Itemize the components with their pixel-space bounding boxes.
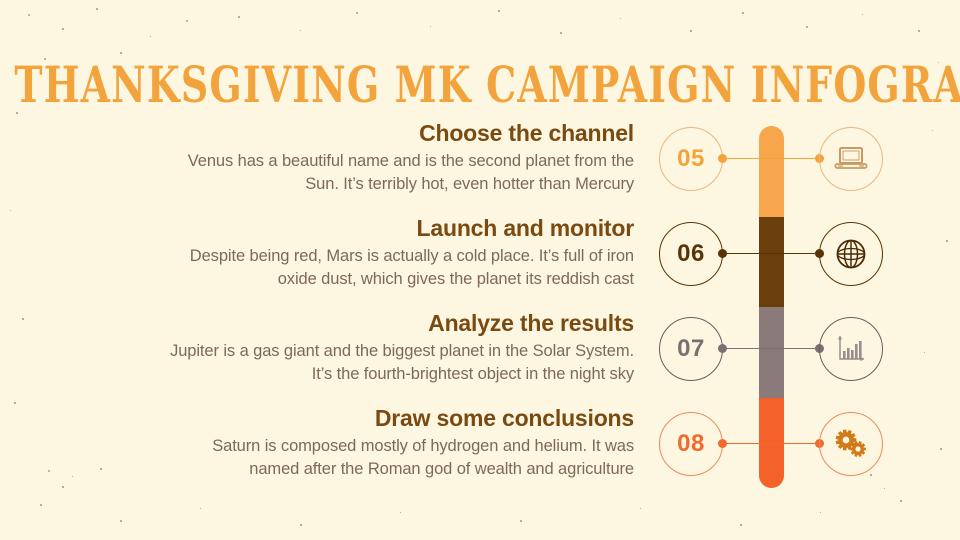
speckle-dot: [186, 20, 188, 22]
step-icon-circle-08[interactable]: [819, 412, 883, 476]
speckle-dot: [740, 524, 742, 526]
speckle-dot: [900, 500, 902, 502]
connector-line: [722, 443, 820, 444]
infographic-row: Launch and monitorDespite being red, Mar…: [0, 213, 960, 308]
speckle-dot: [40, 504, 42, 506]
speckle-dot: [620, 18, 621, 19]
bar-chart-icon: [836, 334, 866, 364]
connector-line: [722, 253, 820, 254]
row-heading: Analyze the results: [164, 308, 634, 338]
speckle-dot: [28, 14, 30, 16]
speckle-dot: [640, 508, 641, 509]
speckle-dot: [690, 30, 692, 32]
speckle-dot: [300, 30, 301, 31]
step-icon-circle-06[interactable]: [819, 222, 883, 286]
row-body-text: Saturn is composed mostly of hydrogen an…: [164, 435, 634, 481]
row-heading: Draw some conclusions: [164, 403, 634, 433]
speckle-dot: [498, 10, 500, 12]
step-number-label: 05: [677, 145, 705, 173]
infographic-row: Choose the channelVenus has a beautiful …: [0, 118, 960, 213]
row-body-text: Venus has a beautiful name and is the se…: [164, 150, 634, 196]
speckle-dot: [120, 520, 122, 522]
step-number-label: 06: [677, 240, 705, 268]
speckle-dot: [918, 30, 920, 32]
speckle-dot: [150, 36, 151, 37]
speckle-dot: [200, 508, 201, 509]
step-number-label: 08: [677, 430, 705, 458]
infographic-row: Draw some conclusionsSaturn is composed …: [0, 403, 960, 498]
speckle-dot: [62, 28, 64, 30]
connector-line: [722, 348, 820, 349]
speckle-dot: [520, 520, 522, 522]
infographic-row: Analyze the resultsJupiter is a gas gian…: [0, 308, 960, 403]
row-body-text: Despite being red, Mars is actually a co…: [164, 245, 634, 291]
row-text-block: Choose the channelVenus has a beautiful …: [164, 118, 634, 196]
speckle-dot: [742, 12, 744, 14]
laptop-icon: [834, 144, 868, 174]
speckle-dot: [430, 26, 431, 27]
step-number-circle-08[interactable]: 08: [659, 412, 723, 476]
page-title: THANKSGIVING MK CAMPAIGN INFOGRAPHICS: [14, 56, 945, 115]
speckle-dot: [96, 8, 98, 10]
step-number-circle-05[interactable]: 05: [659, 127, 723, 191]
row-text-block: Draw some conclusionsSaturn is composed …: [164, 403, 634, 481]
speckle-dot: [560, 32, 562, 34]
speckle-dot: [400, 512, 401, 513]
speckle-dot: [820, 512, 821, 513]
speckle-dot: [300, 524, 302, 526]
infographic-rows: Choose the channelVenus has a beautiful …: [0, 118, 960, 498]
speckle-dot: [806, 26, 808, 28]
row-text-block: Analyze the resultsJupiter is a gas gian…: [164, 308, 634, 386]
speckle-dot: [238, 16, 240, 18]
step-number-label: 07: [677, 335, 705, 363]
globe-icon: [834, 237, 868, 271]
connector-line: [722, 158, 820, 159]
speckle-dot: [862, 14, 863, 15]
step-icon-circle-07[interactable]: [819, 317, 883, 381]
step-icon-circle-05[interactable]: [819, 127, 883, 191]
row-body-text: Jupiter is a gas giant and the biggest p…: [164, 340, 634, 386]
row-heading: Launch and monitor: [164, 213, 634, 243]
speckle-dot: [356, 12, 358, 14]
row-text-block: Launch and monitorDespite being red, Mar…: [164, 213, 634, 291]
speckle-dot: [120, 52, 122, 54]
step-number-circle-06[interactable]: 06: [659, 222, 723, 286]
row-heading: Choose the channel: [164, 118, 634, 148]
gears-icon: [833, 428, 869, 460]
step-number-circle-07[interactable]: 07: [659, 317, 723, 381]
